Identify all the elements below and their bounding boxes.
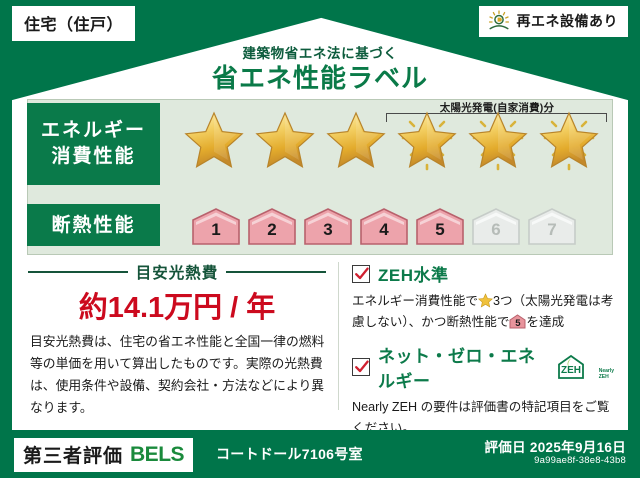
- net-zero-energy-heading: ネット・ゼロ・エネルギー ZEH Nearly ZEH: [352, 342, 614, 392]
- utility-cost-heading: 目安光熱費: [28, 261, 326, 283]
- evaluation-date: 評価日 2025年9月16日: [484, 436, 626, 456]
- net-zero-energy-title: ネット・ゼロ・エネルギー: [378, 342, 545, 392]
- insulation-level-5: 5: [414, 207, 466, 247]
- insulation-level-3: 3: [302, 207, 354, 247]
- star-icon-inline: [478, 293, 493, 308]
- insulation-level-badge-value: 5: [509, 316, 526, 332]
- insulation-level-badge-inline: 5: [509, 314, 526, 329]
- zeh-body-text-1: エネルギー消費性能で: [352, 294, 478, 308]
- insulation-level-2: 2: [246, 207, 298, 247]
- utility-cost-description: 目安光熱費は、住宅の省エネ性能と全国一律の燃料等の単価を用いて算出したものです。…: [30, 331, 326, 419]
- insulation-level-value: 2: [246, 220, 298, 240]
- check-icon: [353, 265, 371, 283]
- energy-performance-label: エネルギー 消費性能: [27, 103, 160, 185]
- renewable-equipment-badge: 再エネ設備あり: [479, 6, 629, 37]
- star-icon: [251, 105, 319, 171]
- svg-text:ZEH: ZEH: [561, 365, 581, 376]
- insulation-level-6: 6: [470, 207, 522, 247]
- zeh-criteria-block: ZEH水準 エネルギー消費性能で 3つ（太陽光発電は考慮しない）、かつ断熱性能で…: [352, 261, 614, 439]
- insulation-level-value: 6: [470, 220, 522, 240]
- insulation-performance-label: 断熱性能: [27, 204, 160, 246]
- star-icon: [535, 105, 603, 171]
- insulation-level-value: 4: [358, 220, 410, 240]
- utility-cost-heading-label: 目安光熱費: [136, 261, 219, 283]
- evaluation-id: 9a99ae8f-38e8-43b8: [534, 455, 626, 466]
- star-icon: [322, 105, 390, 171]
- zeh-house-logo: ZEH Nearly ZEH: [556, 354, 614, 380]
- star-icon: [180, 105, 248, 171]
- bels-logo-text: BELS: [130, 443, 184, 467]
- insulation-level-1: 1: [190, 207, 242, 247]
- label-footer: 第三者評価 BELS コートドール7 106号室 評価日 2025年9月16日 …: [0, 430, 640, 478]
- insulation-level-value: 5: [414, 220, 466, 240]
- energy-performance-row: エネルギー 消費性能: [27, 103, 160, 185]
- room-number: 106号室: [310, 444, 363, 464]
- zeh-logo-sub2: ZEH: [599, 374, 609, 380]
- column-divider: [338, 262, 339, 410]
- rule-right: [226, 271, 326, 273]
- zeh-logo-icon: ZEH: [556, 354, 598, 380]
- insulation-level-value: 3: [302, 220, 354, 240]
- bels-chip: 第三者評価 BELS: [14, 438, 193, 472]
- zeh-standard-body: エネルギー消費性能で 3つ（太陽光発電は考慮しない）、かつ断熱性能で 5 を達成: [352, 291, 614, 333]
- utility-cost-value: 約14.1万円 / 年: [28, 284, 326, 326]
- net-zero-energy-checkbox: [352, 358, 370, 376]
- insulation-performance-row: 断熱性能: [27, 204, 160, 246]
- insulation-level-4: 4: [358, 207, 410, 247]
- insulation-level-7: 7: [526, 207, 578, 247]
- star-icon: [464, 105, 532, 171]
- star-icon: [393, 105, 461, 171]
- zeh-standard-checkbox: [352, 265, 370, 283]
- insulation-level-scale: 1 2 3 4 5: [190, 207, 578, 247]
- energy-star-rating: [180, 105, 603, 171]
- zeh-body-text-2: 3つ（太陽光発電: [493, 294, 588, 308]
- renewable-badge-label: 再エネ設備あり: [517, 11, 619, 31]
- check-icon: [353, 358, 371, 376]
- building-name: コートドール7: [216, 444, 310, 464]
- insulation-level-value: 7: [526, 220, 578, 240]
- energy-label-root: 住宅（住戸） 再エネ設備あり 建築物省エネ法に基づく 省エ: [0, 0, 640, 478]
- building-type-label: 住宅（住戸）: [24, 17, 123, 34]
- sun-solar-icon: [487, 10, 511, 32]
- label-title: 省エネ性能ラベル: [0, 58, 640, 95]
- zeh-standard-title: ZEH水準: [378, 261, 449, 286]
- zeh-standard-heading: ZEH水準: [352, 261, 614, 286]
- building-type-chip: 住宅（住戸）: [12, 6, 135, 41]
- zeh-body-text-4: を達成: [526, 315, 564, 329]
- insulation-level-value: 1: [190, 220, 242, 240]
- third-party-eval-label: 第三者評価: [23, 441, 123, 468]
- rule-left: [28, 271, 128, 273]
- zeh-logo-subtext: Nearly ZEH: [599, 369, 614, 380]
